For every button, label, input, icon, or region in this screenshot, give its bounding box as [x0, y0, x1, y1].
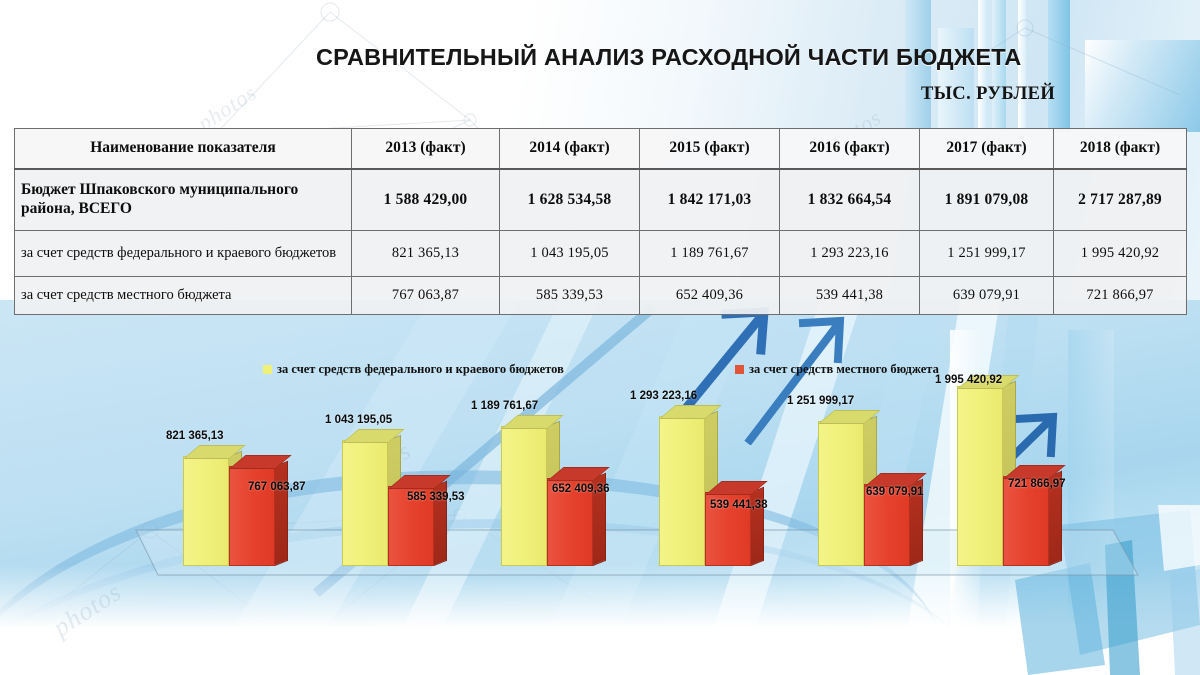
- cell-local-2017: 639 079,91: [920, 277, 1054, 315]
- bar-face-front: [342, 440, 388, 566]
- data-label-federal-2017: 1 251 999,17: [787, 395, 854, 407]
- cell-federal-2018: 1 995 420,92: [1054, 231, 1187, 277]
- data-label-federal-2014: 1 043 195,05: [325, 414, 392, 426]
- data-label-federal-2018: 1 995 420,92: [935, 374, 1002, 386]
- row-label-local: за счет средств местного бюджета: [15, 277, 352, 315]
- cell-local-2015: 652 409,36: [640, 277, 780, 315]
- background-tower: [1085, 40, 1200, 132]
- data-label-local-2017: 639 079,91: [866, 486, 924, 498]
- bar-federal-2013: [183, 456, 229, 566]
- cell-local-2013: 767 063,87: [352, 277, 500, 315]
- cell-federal-2014: 1 043 195,05: [500, 231, 640, 277]
- cell-total-2017: 1 891 079,08: [920, 169, 1054, 231]
- col-header-2013: 2013 (факт): [352, 129, 500, 169]
- cell-federal-2016: 1 293 223,16: [780, 231, 920, 277]
- data-label-local-2013: 767 063,87: [248, 481, 306, 493]
- cell-total-2016: 1 832 664,54: [780, 169, 920, 231]
- budget-table-container: Наименование показателя 2013 (факт) 2014…: [14, 128, 1186, 315]
- cell-total-2015: 1 842 171,03: [640, 169, 780, 231]
- col-header-2014: 2014 (факт): [500, 129, 640, 169]
- bar-face-front: [957, 386, 1003, 566]
- col-header-indicator: Наименование показателя: [15, 129, 352, 169]
- cell-federal-2015: 1 189 761,67: [640, 231, 780, 277]
- cell-total-2018: 2 717 287,89: [1054, 169, 1187, 231]
- legend-swatch-federal-icon: [263, 365, 272, 374]
- table-row: Бюджет Шпаковского муниципального района…: [15, 169, 1187, 231]
- col-header-2016: 2016 (факт): [780, 129, 920, 169]
- cell-local-2014: 585 339,53: [500, 277, 640, 315]
- data-label-local-2015: 652 409,36: [552, 483, 610, 495]
- cell-local-2016: 539 441,38: [780, 277, 920, 315]
- legend-label-federal: за счет средств федерального и краевого …: [277, 362, 564, 376]
- row-label-federal: за счет средств федерального и краевого …: [15, 231, 352, 277]
- budget-bar-chart: за счет средств федерального и краевого …: [0, 330, 1200, 590]
- bar-federal-2017: [818, 421, 864, 566]
- page-title: СРАВНИТЕЛЬНЫЙ АНАЛИЗ РАСХОДНОЙ ЧАСТИ БЮД…: [316, 44, 1021, 71]
- cell-total-2013: 1 588 429,00: [352, 169, 500, 231]
- row-label-total: Бюджет Шпаковского муниципального района…: [15, 169, 352, 231]
- data-label-local-2018: 721 866,97: [1008, 478, 1066, 490]
- data-label-local-2014: 585 339,53: [407, 491, 465, 503]
- bar-face-side: [275, 461, 288, 566]
- bar-federal-2015: [501, 426, 547, 566]
- bar-federal-2014: [342, 440, 388, 566]
- slide-canvas: photos photos photos photos СРАВНИТЕЛЬНЫ…: [0, 0, 1200, 675]
- cell-local-2018: 721 866,97: [1054, 277, 1187, 315]
- legend-label-local: за счет средств местного бюджета: [749, 362, 939, 376]
- bar-federal-2016: [659, 416, 705, 566]
- units-label: ТЫС. РУБЛЕЙ: [921, 84, 1055, 105]
- col-header-2018: 2018 (факт): [1054, 129, 1187, 169]
- bar-face-front: [659, 416, 705, 566]
- legend-item-local: за счет средств местного бюджета: [735, 362, 939, 377]
- col-header-2015: 2015 (факт): [640, 129, 780, 169]
- data-label-federal-2015: 1 189 761,67: [471, 400, 538, 412]
- budget-table: Наименование показателя 2013 (факт) 2014…: [14, 128, 1187, 315]
- col-header-2017: 2017 (факт): [920, 129, 1054, 169]
- cell-total-2014: 1 628 534,58: [500, 169, 640, 231]
- table-row: за счет средств местного бюджета 767 063…: [15, 277, 1187, 315]
- cell-federal-2013: 821 365,13: [352, 231, 500, 277]
- legend-swatch-local-icon: [735, 365, 744, 374]
- data-label-federal-2013: 821 365,13: [166, 430, 224, 442]
- legend-item-federal: за счет средств федерального и краевого …: [263, 362, 564, 377]
- bar-face-front: [183, 456, 229, 566]
- bar-federal-2018: [957, 386, 1003, 566]
- bar-face-front: [501, 426, 547, 566]
- background-tower: [1048, 0, 1070, 132]
- bar-face-front: [818, 421, 864, 566]
- table-row: за счет средств федерального и краевого …: [15, 231, 1187, 277]
- data-label-federal-2016: 1 293 223,16: [630, 390, 697, 402]
- table-header-row: Наименование показателя 2013 (факт) 2014…: [15, 129, 1187, 169]
- data-label-local-2016: 539 441,38: [710, 499, 768, 511]
- cell-federal-2017: 1 251 999,17: [920, 231, 1054, 277]
